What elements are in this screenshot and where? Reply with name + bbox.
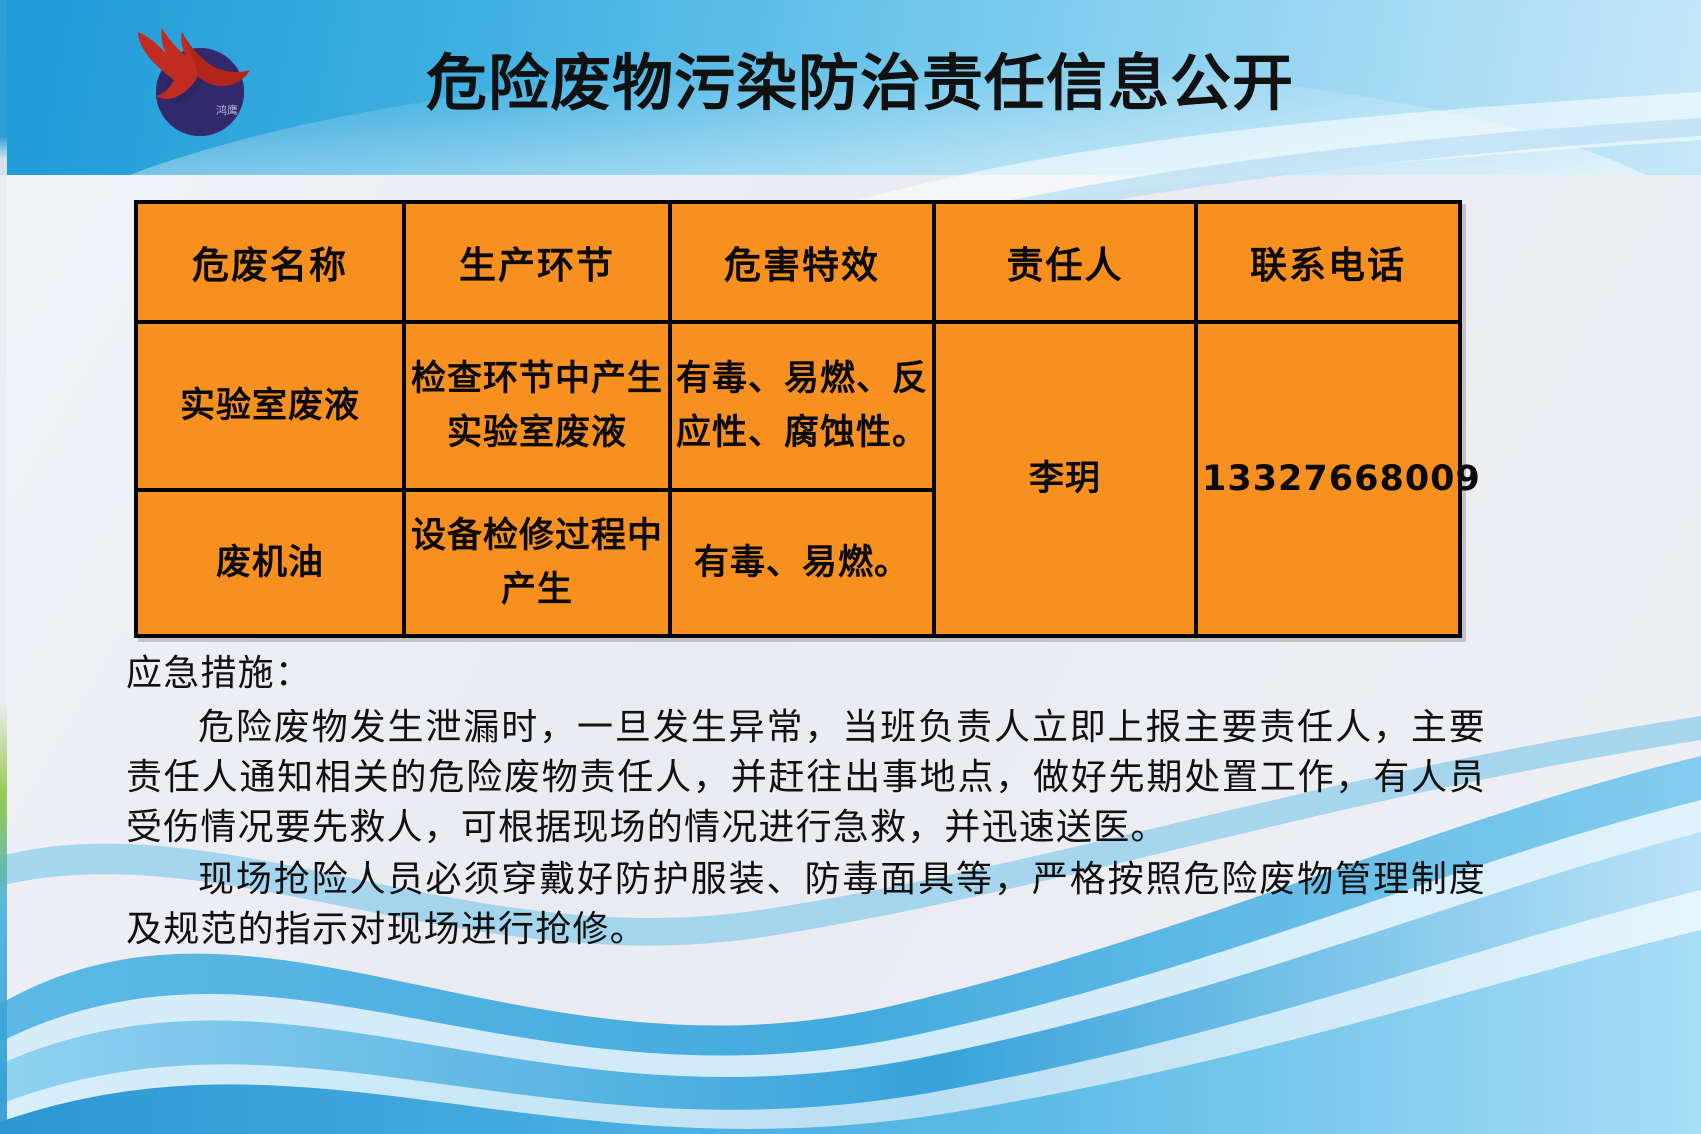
cell-hazard-property: 有毒、易燃。 xyxy=(670,490,934,636)
hazard-line: 应性、腐蚀性。 xyxy=(676,406,928,460)
svg-text:鸿鹰: 鸿鹰 xyxy=(216,103,238,117)
cell-contact-phone: 13327668009 xyxy=(1196,322,1460,636)
left-edge-stripe xyxy=(0,0,7,1134)
eagle-globe-logo: 鸿鹰 xyxy=(108,14,288,142)
cell-responsible-person: 李玥 xyxy=(934,322,1196,636)
hazardous-waste-table-wrap: 危废名称 生产环节 危害特效 责任人 联系电话 实验室废液 检查环节中产生 实验… xyxy=(134,200,1458,638)
cell-hazard-property: 有毒、易燃、反 应性、腐蚀性。 xyxy=(670,322,934,490)
stage-line: 实验室废液 xyxy=(410,406,664,460)
stage-line: 检查环节中产生 xyxy=(410,352,664,406)
hazardous-waste-table: 危废名称 生产环节 危害特效 责任人 联系电话 实验室废液 检查环节中产生 实验… xyxy=(134,200,1462,638)
emergency-measures-heading: 应急措施： xyxy=(126,648,1486,698)
cell-production-stage: 设备检修过程中 产生 xyxy=(404,490,670,636)
cell-production-stage: 检查环节中产生 实验室废液 xyxy=(404,322,670,490)
stage-line: 产生 xyxy=(410,563,664,617)
hazard-line: 有毒、易燃。 xyxy=(676,536,928,590)
table-row: 实验室废液 检查环节中产生 实验室废液 有毒、易燃、反 应性、腐蚀性。 李玥 1… xyxy=(136,322,1460,490)
emergency-paragraph: 现场抢险人员必须穿戴好防护服装、防毒面具等，严格按照危险废物管理制度及规范的指示… xyxy=(126,854,1486,954)
header-waste-name: 危废名称 xyxy=(136,202,404,322)
table-header-row: 危废名称 生产环节 危害特效 责任人 联系电话 xyxy=(136,202,1460,322)
page-title: 危险废物污染防治责任信息公开 xyxy=(330,48,1390,120)
cell-waste-name: 实验室废液 xyxy=(136,322,404,490)
emergency-measures-block: 应急措施： 危险废物发生泄漏时，一旦发生异常，当班负责人立即上报主要责任人，主要… xyxy=(126,648,1486,954)
emergency-paragraph: 危险废物发生泄漏时，一旦发生异常，当班负责人立即上报主要责任人，主要责任人通知相… xyxy=(126,702,1486,852)
hazard-line: 有毒、易燃、反 xyxy=(676,352,928,406)
cell-waste-name: 废机油 xyxy=(136,490,404,636)
header-responsible-person: 责任人 xyxy=(934,202,1196,322)
slide-canvas: 鸿鹰 危险废物污染防治责任信息公开 危废名称 生产环节 危害特效 责任人 联系电… xyxy=(0,0,1701,1134)
header-production-stage: 生产环节 xyxy=(404,202,670,322)
header-contact-phone: 联系电话 xyxy=(1196,202,1460,322)
header-hazard-property: 危害特效 xyxy=(670,202,934,322)
stage-line: 设备检修过程中 xyxy=(410,509,664,563)
